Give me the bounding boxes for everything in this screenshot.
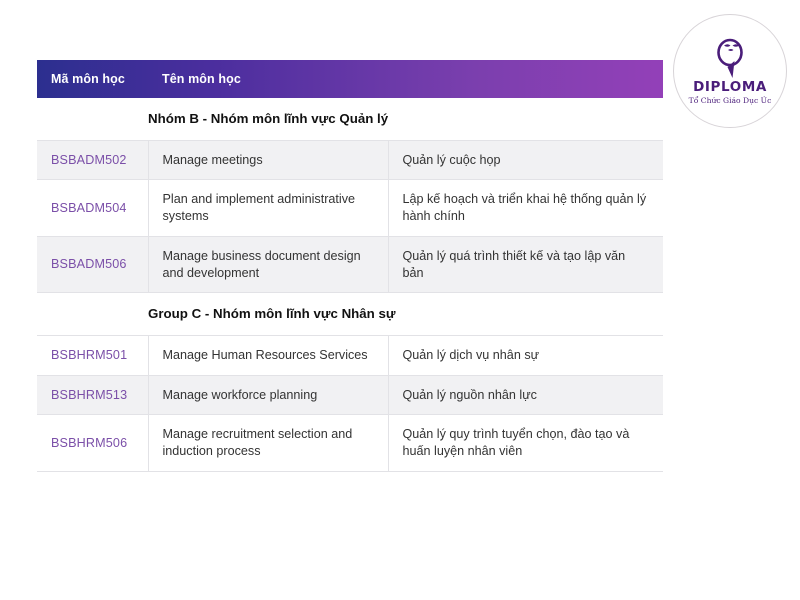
table-row: BSBHRM513Manage workforce planningQuản l… (37, 375, 663, 415)
table-row: BSBADM506Manage business document design… (37, 236, 663, 292)
course-code: BSBADM506 (37, 236, 148, 292)
course-name-en: Manage recruitment selection and inducti… (148, 415, 388, 471)
diploma-logo: DIPLOMA Tổ Chức Giáo Dục Úc (673, 14, 787, 128)
column-header-vname (388, 60, 663, 98)
course-code: BSBHRM501 (37, 336, 148, 376)
course-name-en: Plan and implement administrative system… (148, 180, 388, 236)
course-name-vi: Quản lý dịch vụ nhân sự (388, 336, 663, 376)
course-table: Mã môn học Tên môn học Nhóm B - Nhóm môn… (37, 60, 663, 472)
table-header: Mã môn học Tên môn học (37, 60, 663, 98)
group-header-spacer (37, 293, 148, 336)
course-code: BSBHRM513 (37, 375, 148, 415)
course-name-vi: Quản lý quá trình thiết kế và tạo lập vă… (388, 236, 663, 292)
table-header-row: Mã môn học Tên môn học (37, 60, 663, 98)
table-row: BSBADM504Plan and implement administrati… (37, 180, 663, 236)
table-body: Nhóm B - Nhóm môn lĩnh vực Quản lýBSBADM… (37, 98, 663, 471)
group-header-row: Nhóm B - Nhóm môn lĩnh vực Quản lý (37, 98, 663, 140)
group-header-spacer (37, 98, 148, 140)
course-name-vi: Lập kế hoạch và triển khai hệ thống quản… (388, 180, 663, 236)
course-name-vi: Quản lý cuộc họp (388, 140, 663, 180)
logo-title: DIPLOMA (693, 81, 767, 95)
group-header-title: Nhóm B - Nhóm môn lĩnh vực Quản lý (148, 98, 663, 140)
q-monogram-icon (707, 37, 753, 79)
course-name-vi: Quản lý nguồn nhân lực (388, 375, 663, 415)
course-name-en: Manage business document design and deve… (148, 236, 388, 292)
course-name-en: Manage Human Resources Services (148, 336, 388, 376)
column-header-code: Mã môn học (37, 60, 148, 98)
group-header-row: Group C - Nhóm môn lĩnh vực Nhân sự (37, 293, 663, 336)
table-row: BSBHRM506Manage recruitment selection an… (37, 415, 663, 471)
column-header-name: Tên môn học (148, 60, 388, 98)
course-name-en: Manage meetings (148, 140, 388, 180)
table-row: BSBADM502Manage meetingsQuản lý cuộc họp (37, 140, 663, 180)
group-header-title: Group C - Nhóm môn lĩnh vực Nhân sự (148, 293, 663, 336)
course-code: BSBADM502 (37, 140, 148, 180)
course-code: BSBADM504 (37, 180, 148, 236)
course-name-en: Manage workforce planning (148, 375, 388, 415)
table-row: BSBHRM501Manage Human Resources Services… (37, 336, 663, 376)
logo-subtitle: Tổ Chức Giáo Dục Úc (689, 97, 772, 105)
course-name-vi: Quản lý quy trình tuyển chọn, đào tạo và… (388, 415, 663, 471)
course-code: BSBHRM506 (37, 415, 148, 471)
